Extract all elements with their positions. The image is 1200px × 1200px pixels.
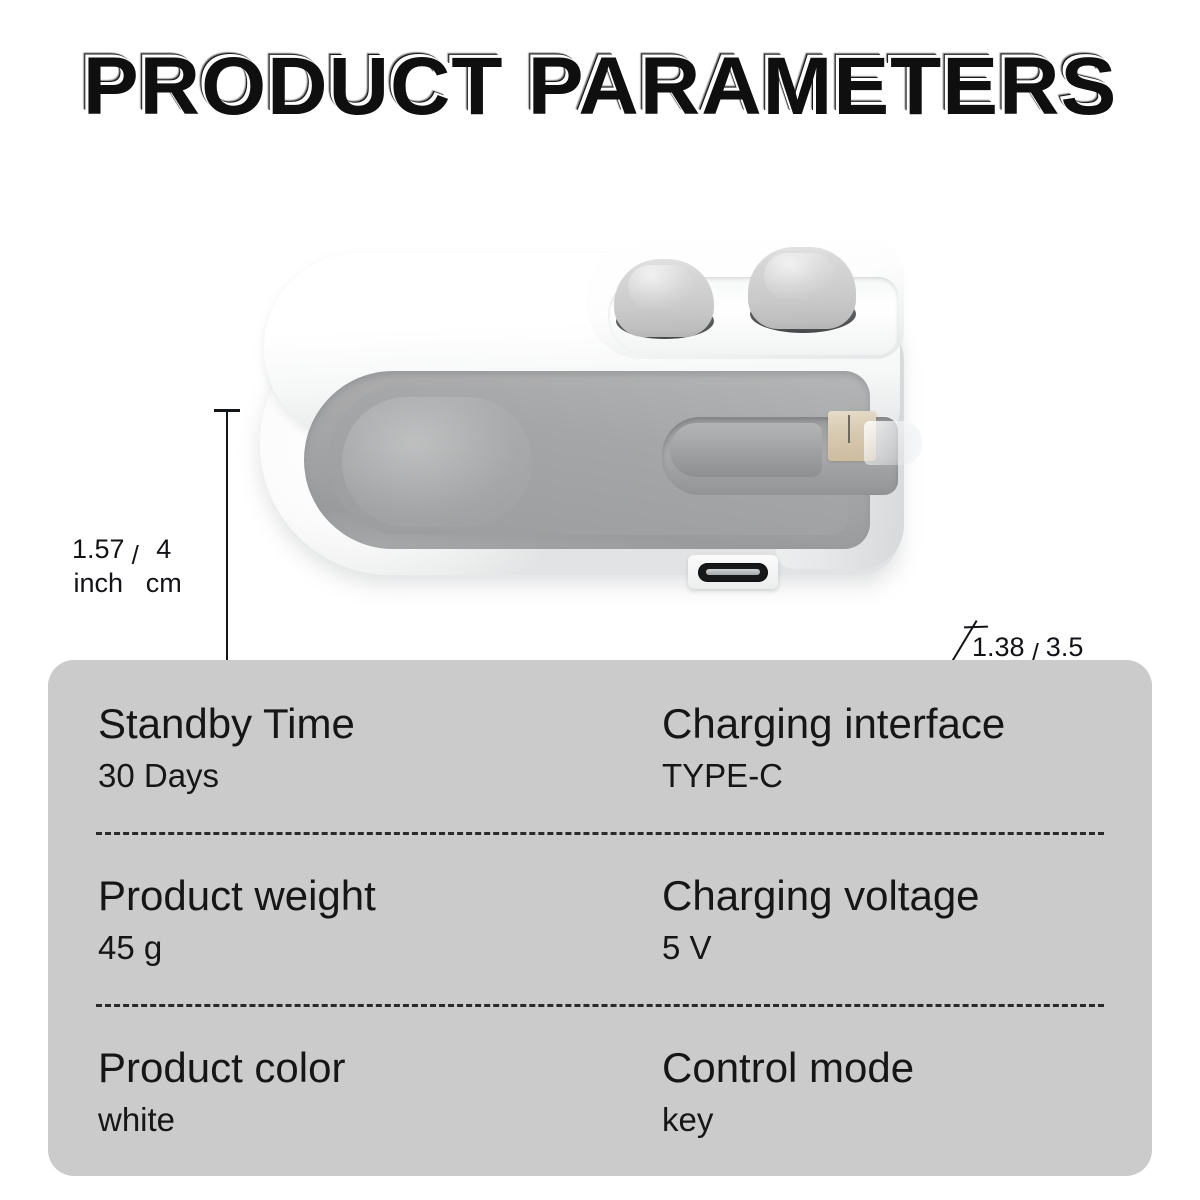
spec-row: Standby Time 30 Days Charging interface … [48,660,1152,832]
height-dimension-label: 1.57 inch / 4 cm [72,532,212,608]
spec-row: Product color white Control mode key [48,1004,1152,1176]
spec-label: Charging interface [662,698,1152,750]
spec-cell-charging-voltage: Charging voltage 5 V [656,832,1152,1004]
spec-value: 30 Days [98,754,656,798]
depth-value-inch: 1.38 [972,632,1025,662]
spec-cell-product-weight: Product weight 45 g [48,832,656,1004]
spec-value: white [98,1098,656,1142]
height-separator: / [125,532,146,572]
spec-label: Product color [98,1042,656,1094]
sealing-bar [670,423,822,477]
product-image-region: 1.57 inch / 4 cm 3.74 inch / 9.5 cm 1.38… [0,170,1200,640]
heating-element-highlight [864,421,922,465]
spec-label: Standby Time [98,698,656,750]
depth-dimension-cap-top [964,626,988,629]
spec-label: Control mode [662,1042,1152,1094]
page-title: PRODUCT PARAMETERS [83,44,1117,130]
button-left-highlight [628,265,694,309]
height-value-inch: 1.57 [72,534,125,564]
spec-cell-charging-interface: Charging interface TYPE-C [656,660,1152,832]
height-value-cm: 4 [156,534,171,564]
spec-value: 5 V [662,926,1152,970]
spec-row: Product weight 45 g Charging voltage 5 V [48,832,1152,1004]
product-device-illustration [256,225,904,595]
spec-value: 45 g [98,926,656,970]
height-dimension-line [226,410,228,700]
spec-cell-control-mode: Control mode key [656,1004,1152,1176]
spec-value: key [662,1098,1152,1142]
spec-cell-product-color: Product color white [48,1004,656,1176]
specifications-card: Standby Time 30 Days Charging interface … [48,660,1152,1176]
usb-c-port-tongue [706,569,760,575]
device-gray-panel-highlight [342,397,532,527]
spec-value: TYPE-C [662,754,1152,798]
button-right-highlight [764,253,836,299]
spec-cell-standby-time: Standby Time 30 Days [48,660,656,832]
height-unit-cm: cm [146,568,182,598]
spec-label: Charging voltage [662,870,1152,922]
depth-value-cm: 3.5 [1046,632,1084,662]
height-dimension-cap-top [214,409,240,412]
spec-label: Product weight [98,870,656,922]
height-unit-inch: inch [74,568,124,598]
page-title-area: PRODUCT PARAMETERS [0,44,1200,130]
